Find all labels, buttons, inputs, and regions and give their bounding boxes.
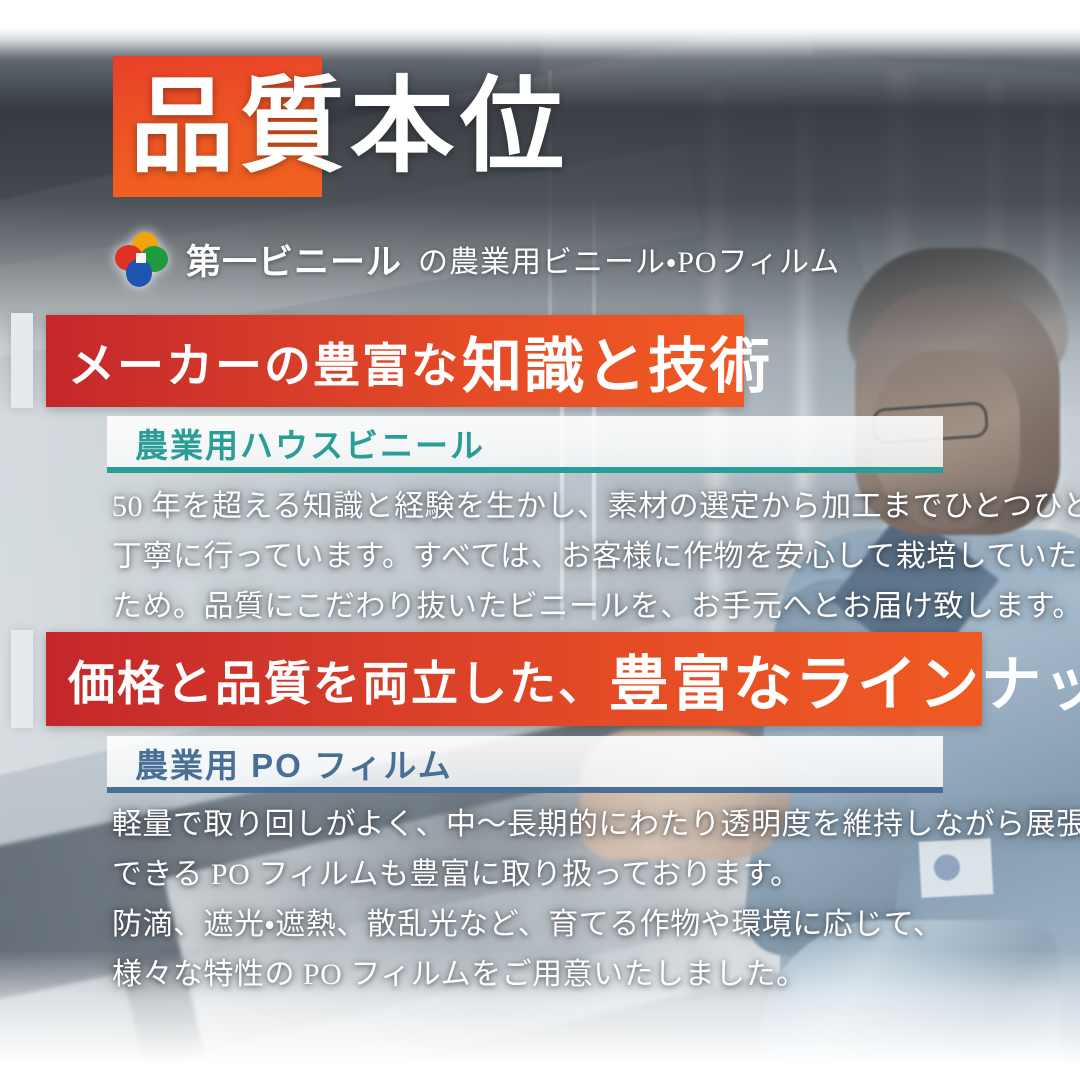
section-banner-2: 価格と品質を両立した、 豊富なラインナップ	[46, 632, 982, 726]
section-body-1: 50 年を超える知識と経験を生かし、素材の選定から加工までひとつひとつ 丁寧に行…	[112, 482, 1080, 632]
brand-name: 第一ビニール	[186, 234, 402, 285]
section-body-1-line-2: 丁寧に行っています。すべては、お客様に作物を安心して栽培していただく	[112, 532, 1080, 582]
brand-tagline: の農業用ビニール・POフィルム	[418, 237, 840, 281]
section-body-2: 軽量で取り回しがよく、中〜長期的にわたり透明度を維持しながら展張 できる PO …	[112, 800, 1080, 1000]
section-banner-1: メーカーの豊富な 知識と技術	[46, 315, 744, 407]
section-body-2-line-2: できる PO フィルムも豊富に取り扱っております。	[112, 850, 1080, 900]
section-banner-2-lead: 価格と品質を両立した、	[68, 645, 607, 714]
section-body-2-line-4: 様々な特性の PO フィルムをご用意いたしました。	[112, 950, 1080, 1000]
section-banner-1-emphasis: 知識と技術	[462, 318, 772, 405]
page-title: 品質本位	[130, 66, 830, 190]
subheading-rule-2	[107, 787, 943, 793]
section-body-1-line-3: ため。品質にこだわり抜いたビニールを、お手元へとお届け致します。	[112, 582, 1080, 632]
subheading-rule-1	[107, 467, 943, 473]
left-accent-bar-icon-2	[11, 630, 33, 728]
subheading-plate-2: 農業用 PO フィルム	[107, 736, 943, 790]
promotional-banner-page: 品質本位 第一ビニール の農業用ビニール・POフィルム メーカーの豊富な 知識と…	[0, 0, 1080, 1080]
brand-line: 第一ビニール の農業用ビニール・POフィルム	[112, 224, 840, 294]
left-accent-bar-icon-1	[11, 313, 33, 408]
section-banner-1-lead: メーカーの豊富な	[68, 327, 460, 396]
section-body-2-line-3: 防滴、遮光・遮熱、散乱光など、育てる作物や環境に応じて、	[112, 900, 1080, 950]
four-petal-flower-logo-icon	[112, 230, 170, 288]
content-layer: 品質本位 第一ビニール の農業用ビニール・POフィルム メーカーの豊富な 知識と…	[0, 0, 1080, 1080]
section-banner-2-emphasis: 豊富なラインナップ	[609, 636, 1080, 723]
section-body-1-line-1: 50 年を超える知識と経験を生かし、素材の選定から加工までひとつひとつ	[112, 482, 1080, 532]
subheading-label-2: 農業用 PO フィルム	[135, 739, 453, 787]
subheading-label-1: 農業用ハウスビニール	[135, 419, 485, 467]
subheading-plate-1: 農業用ハウスビニール	[107, 416, 943, 470]
section-body-2-line-1: 軽量で取り回しがよく、中〜長期的にわたり透明度を維持しながら展張	[112, 800, 1080, 850]
